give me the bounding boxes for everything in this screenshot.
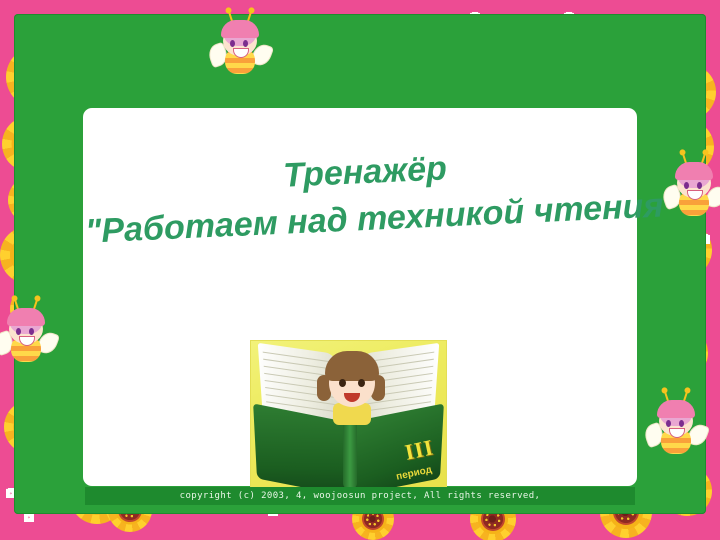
bee-eye-right bbox=[697, 182, 702, 189]
copyright-bar: copyright (c) 2003, 4, woojoosun project… bbox=[85, 487, 635, 505]
bee-eye-left bbox=[666, 420, 671, 427]
bee-hat bbox=[221, 20, 259, 38]
bee-eye-right bbox=[679, 420, 684, 427]
presentation-slide: Тренажёр "Работаем над техникой чтения" … bbox=[0, 0, 720, 540]
bee-fairy-left bbox=[4, 306, 48, 368]
bee-fairy-right bbox=[672, 160, 716, 222]
girl-eye-right bbox=[358, 379, 365, 387]
copyright-text: copyright (c) 2003, 4, woojoosun project… bbox=[180, 491, 541, 501]
bee-eye-right bbox=[29, 328, 34, 335]
girl-reading-book-image: III период bbox=[250, 340, 447, 490]
bee-eye-right bbox=[243, 40, 248, 47]
bee-hat bbox=[7, 308, 45, 326]
girl-hair bbox=[325, 351, 379, 381]
bee-eye-left bbox=[16, 328, 21, 335]
bee-fairy-bottom-right bbox=[654, 398, 698, 460]
bee-fairy-top bbox=[218, 18, 262, 80]
bee-eye-left bbox=[230, 40, 235, 47]
bee-eye-left bbox=[684, 182, 689, 189]
bee-hat bbox=[657, 400, 695, 418]
bee-hat bbox=[675, 162, 713, 180]
girl-eye-left bbox=[339, 379, 346, 387]
